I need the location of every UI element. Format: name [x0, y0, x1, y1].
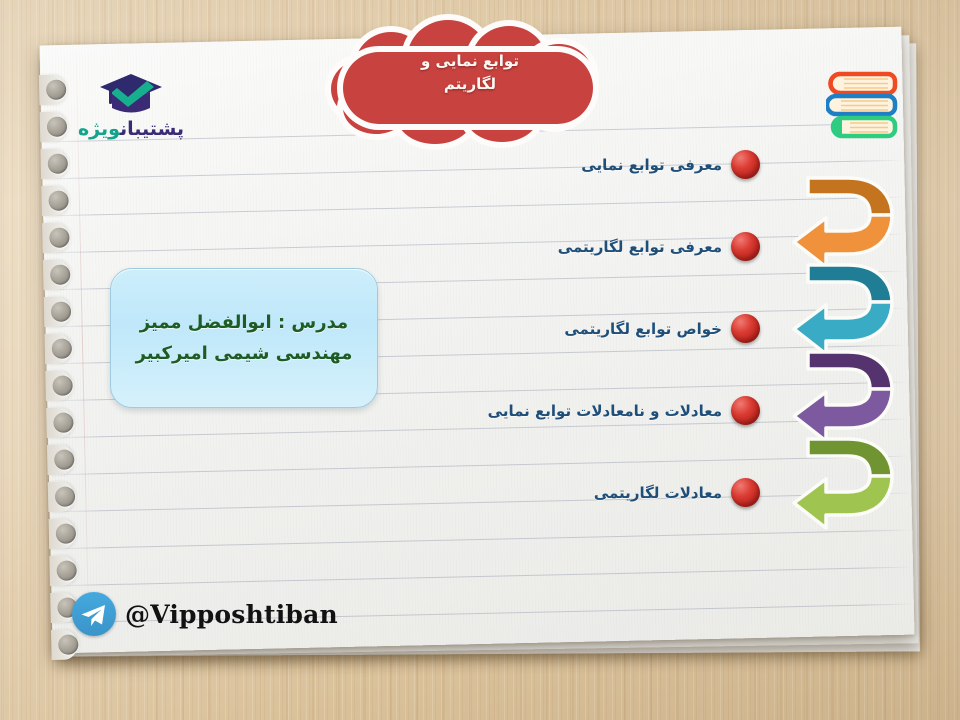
agenda-item-label: معرفی توابع لگاریتمی	[558, 238, 722, 256]
rule-line	[49, 456, 911, 476]
rule-line	[50, 493, 912, 513]
rule-line	[43, 197, 905, 217]
bullet-dot-icon	[731, 396, 760, 425]
agenda-item[interactable]: معرفی توابع لگاریتمی	[558, 232, 760, 261]
agenda-item[interactable]: معادلات لگاریتمی	[594, 478, 760, 507]
brand-word-1: پشتیبان	[120, 118, 184, 140]
slide-title-line2: لگاریتم	[325, 73, 615, 96]
rule-line	[44, 234, 906, 254]
bullet-dot-icon	[731, 232, 760, 261]
slide-title-line1: توابع نمایی و	[325, 50, 615, 73]
rule-line	[48, 419, 910, 439]
agenda-item-label: معادلات لگاریتمی	[594, 484, 722, 502]
rule-line	[50, 530, 912, 550]
telegram-footer: @Vipposhtiban	[72, 592, 338, 636]
agenda-item-label: معادلات و نامعادلات توابع نمایی	[488, 402, 722, 420]
agenda-item[interactable]: معادلات و نامعادلات توابع نمایی	[488, 396, 760, 425]
agenda-item[interactable]: خواص توابع لگاریتمی	[564, 314, 760, 343]
telegram-handle[interactable]: @Vipposhtiban	[125, 600, 338, 629]
brand-word-2: ویژه	[78, 118, 120, 140]
bullet-dot-icon	[731, 314, 760, 343]
brand-name: پشتیبانویژه	[72, 118, 190, 140]
agenda-item-label: خواص توابع لگاریتمی	[564, 320, 722, 338]
instructor-name: مدرس : ابوالفضل ممیز	[136, 307, 353, 339]
u-turn-arrow-green	[786, 429, 906, 533]
slide-title: توابع نمایی و لگاریتم	[325, 50, 615, 97]
agenda-item[interactable]: معرفی توابع نمایی	[581, 150, 760, 179]
bullet-dot-icon	[731, 478, 760, 507]
stack-of-books-icon	[826, 62, 908, 142]
graduation-cap-check-icon	[98, 72, 164, 120]
u-turn-arrow-group	[786, 168, 906, 528]
telegram-paper-plane-icon[interactable]	[72, 592, 116, 636]
agenda-item-label: معرفی توابع نمایی	[581, 156, 722, 174]
instructor-text: مدرس : ابوالفضل ممیز مهندسی شیمی امیرکبی…	[136, 307, 353, 370]
rule-line	[51, 567, 913, 587]
instructor-info-box: مدرس : ابوالفضل ممیز مهندسی شیمی امیرکبی…	[110, 268, 378, 408]
brand-logo: پشتیبانویژه	[72, 72, 190, 150]
rule-line	[42, 160, 904, 180]
instructor-field: مهندسی شیمی امیرکبیر	[136, 338, 353, 370]
bullet-dot-icon	[731, 150, 760, 179]
title-cloud: توابع نمایی و لگاریتم	[325, 18, 615, 150]
